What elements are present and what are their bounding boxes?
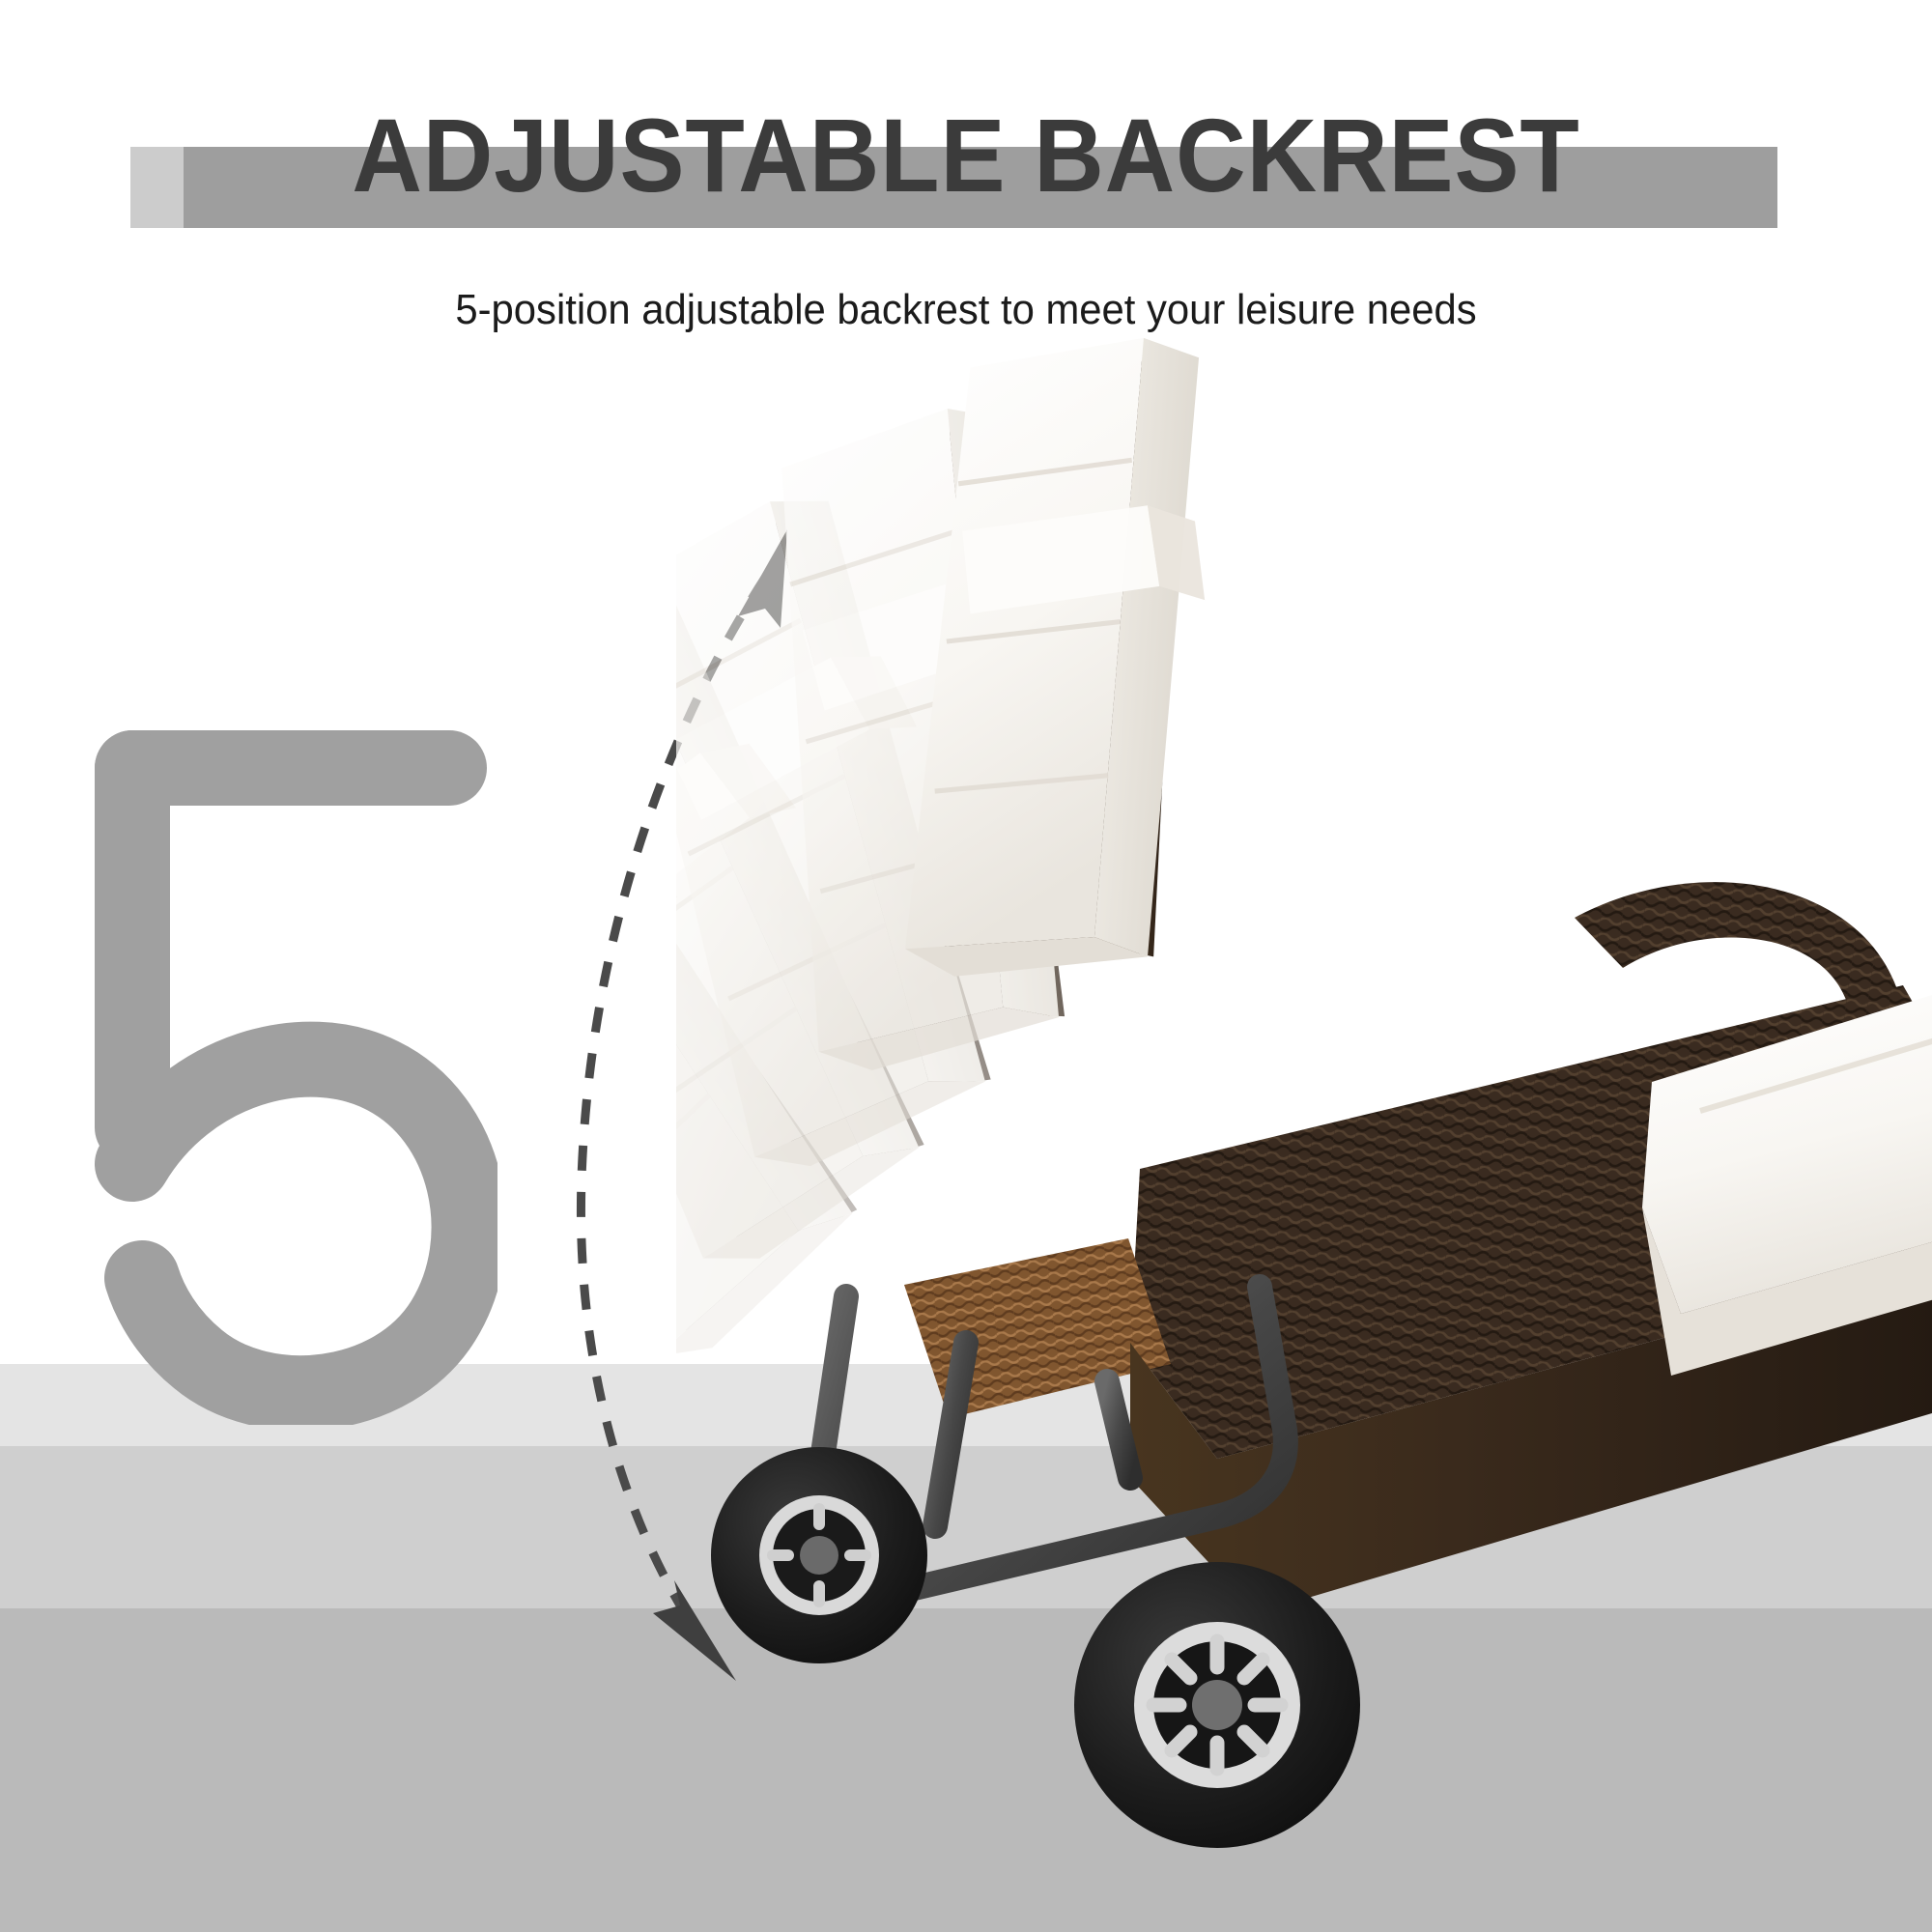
feature-number-five — [53, 710, 497, 1425]
numeral-bowl — [132, 1060, 469, 1394]
wheel-rear — [1074, 1562, 1360, 1848]
product-feature-image: ADJUSTABLE BACKREST 5-position adjustabl… — [0, 0, 1932, 1932]
wheel-front — [711, 1447, 927, 1663]
rattan-sun-lounger — [676, 319, 1932, 1932]
page-title: ADJUSTABLE BACKREST — [68, 93, 1864, 218]
